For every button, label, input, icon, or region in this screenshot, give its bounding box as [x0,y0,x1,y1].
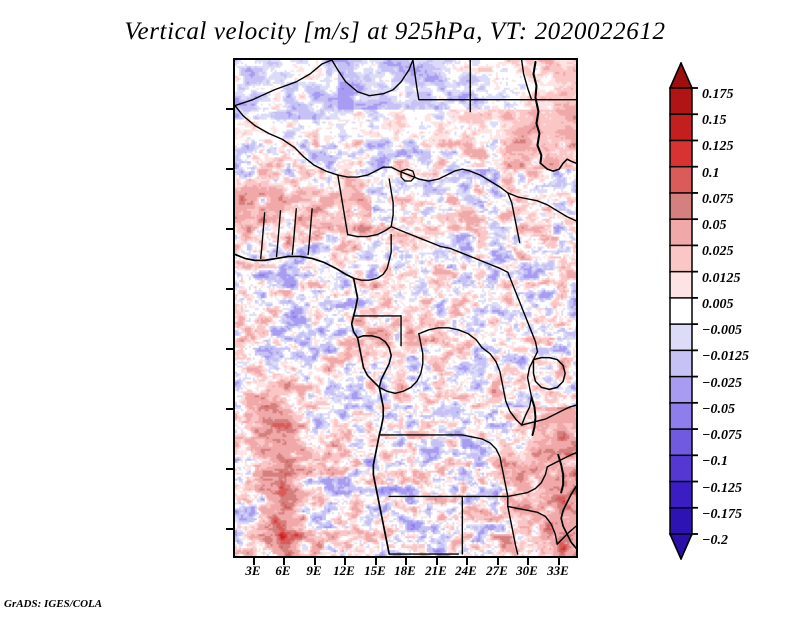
colorbar-tick-label: 0.0125 [702,271,741,287]
x-axis-label-24E: 24E [455,563,477,579]
y-axis-tick [226,468,233,470]
y-axis-tick [226,168,233,170]
colorbar: 0.1750.150.1250.10.0750.050.0250.01250.0… [668,62,788,560]
x-axis-label-3E: 3E [245,563,260,579]
x-axis-label-27E: 27E [486,563,508,579]
colorbar-tick-label: 0.075 [702,192,734,208]
country-borders-overlay [235,60,576,556]
x-axis-label-21E: 21E [425,563,447,579]
colorbar-tick-label: −0.05 [702,402,735,418]
colorbar-tick-label: 0.15 [702,113,727,129]
y-axis-tick [226,228,233,230]
y-axis-tick [226,348,233,350]
colorbar-tick-label: −0.2 [702,533,728,549]
x-axis-label-12E: 12E [333,563,355,579]
x-axis-label-18E: 18E [394,563,416,579]
y-axis-tick [226,408,233,410]
y-axis-tick [226,108,233,110]
colorbar-tick-label: −0.125 [702,481,742,497]
colorbar-tick-label: −0.0125 [702,349,749,365]
grads-plot-window: Vertical velocity [m/s] at 925hPa, VT: 2… [0,0,800,618]
colorbar-tick-label: −0.075 [702,428,742,444]
x-axis-label-33E: 33E [547,563,569,579]
colorbar-tick-label: 0.05 [702,218,727,234]
colorbar-tick-label: 0.1 [702,166,720,182]
colorbar-tick-label: 0.025 [702,244,734,260]
page-title: Vertical velocity [m/s] at 925hPa, VT: 2… [0,18,790,46]
map-plot-area [233,58,578,558]
colorbar-tick-label: −0.025 [702,376,742,392]
y-axis-tick [226,528,233,530]
x-axis-label-6E: 6E [275,563,290,579]
y-axis-tick [226,288,233,290]
attribution-footer: GrADS: IGES/COLA [4,598,102,610]
x-axis-label-15E: 15E [364,563,386,579]
x-axis-label-30E: 30E [516,563,538,579]
colorbar-tick-label: −0.005 [702,323,742,339]
colorbar-tick-label: −0.175 [702,507,742,523]
colorbar-tick-label: 0.125 [702,139,734,155]
x-axis-label-9E: 9E [306,563,321,579]
colorbar-tick-label: −0.1 [702,454,728,470]
colorbar-tick-label: 0.175 [702,87,734,103]
colorbar-tick-label: 0.005 [702,297,734,313]
